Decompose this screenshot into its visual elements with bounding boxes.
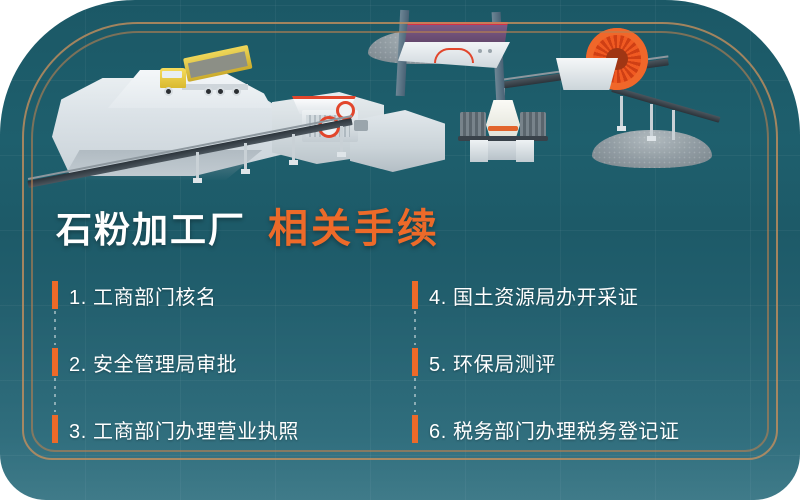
sand-maker-motor bbox=[460, 112, 486, 138]
list-item[interactable]: 3. 工商部门办理营业执照 bbox=[52, 414, 299, 444]
truck-wheel bbox=[204, 87, 213, 96]
conveyor-leg bbox=[672, 110, 675, 140]
vibrating-screen-icon bbox=[398, 22, 516, 78]
dump-truck-icon bbox=[160, 60, 252, 98]
conveyor-leg bbox=[292, 134, 295, 162]
sand-maker-leg bbox=[516, 140, 534, 162]
list-bullet-bar-icon bbox=[52, 281, 58, 309]
procedure-list-left-column: 1. 工商部门核名 2. 安全管理局审批 3. 工商部门办理营业执照 bbox=[52, 275, 392, 440]
sand-maker-motor bbox=[520, 112, 546, 138]
list-connector-dots bbox=[54, 378, 56, 412]
conveyor-foot bbox=[289, 160, 298, 165]
list-bullet-bar-icon bbox=[412, 415, 418, 443]
list-item[interactable]: 2. 安全管理局审批 bbox=[52, 347, 237, 377]
list-connector-dots bbox=[414, 378, 416, 412]
sand-maker-leg bbox=[470, 140, 488, 162]
sand-maker-feed-cone bbox=[486, 100, 520, 140]
list-item-label: 5. 环保局测评 bbox=[429, 348, 556, 377]
list-item-label: 4. 国土资源局办开采证 bbox=[429, 281, 638, 310]
list-connector-dots bbox=[414, 311, 416, 345]
washer-tank bbox=[556, 58, 618, 90]
list-item-label: 3. 工商部门办理营业执照 bbox=[69, 415, 299, 444]
list-item-label: 1. 工商部门核名 bbox=[69, 281, 217, 310]
truck-wheel bbox=[232, 87, 241, 96]
list-item-label: 6. 税务部门办理税务登记证 bbox=[429, 415, 680, 444]
list-bullet-bar-icon bbox=[412, 348, 418, 376]
truck-wheel bbox=[216, 87, 225, 96]
conveyor-leg bbox=[620, 96, 623, 128]
conveyor-foot bbox=[617, 126, 626, 131]
list-item[interactable]: 1. 工商部门核名 bbox=[52, 280, 217, 310]
vsi-sand-maker-icon bbox=[462, 96, 544, 162]
list-item[interactable]: 6. 税务部门办理税务登记证 bbox=[412, 414, 680, 444]
conveyor-leg bbox=[244, 143, 247, 171]
conveyor-foot bbox=[647, 136, 656, 141]
conveyor-foot bbox=[193, 178, 202, 183]
procedure-list-right-column: 4. 国土资源局办开采证 5. 环保局测评 6. 税务部门办理税务登记证 bbox=[412, 275, 752, 440]
conveyor-leg bbox=[196, 152, 199, 180]
title-primary: 石粉加工厂 bbox=[56, 201, 246, 253]
title-highlight: 相关手续 bbox=[268, 196, 440, 254]
list-item-label: 2. 安全管理局审批 bbox=[69, 348, 237, 377]
screen-port bbox=[488, 49, 492, 53]
conveyor-foot bbox=[337, 152, 346, 157]
page-title: 石粉加工厂 相关手续 bbox=[56, 196, 440, 254]
list-connector-dots bbox=[54, 311, 56, 345]
screen-port bbox=[478, 49, 482, 53]
sand-washer-icon bbox=[556, 28, 652, 94]
production-line-illustration bbox=[0, 0, 800, 195]
banner-panel: 石粉加工厂 相关手续 1. 工商部门核名 2. 安全管理局审批 3. 工商部门办… bbox=[0, 0, 800, 500]
list-item[interactable]: 4. 国土资源局办开采证 bbox=[412, 280, 638, 310]
truck-wheel bbox=[164, 87, 173, 96]
conveyor-leg bbox=[340, 126, 343, 154]
procedure-list: 1. 工商部门核名 2. 安全管理局审批 3. 工商部门办理营业执照 4. 国土… bbox=[52, 275, 752, 440]
screen-hoop bbox=[434, 48, 474, 63]
list-item[interactable]: 5. 环保局测评 bbox=[412, 347, 556, 377]
conveyor-foot bbox=[241, 169, 250, 174]
conveyor-leg bbox=[650, 104, 653, 138]
truck-windshield bbox=[162, 71, 182, 78]
crusher-motor bbox=[354, 120, 368, 131]
list-bullet-bar-icon bbox=[52, 348, 58, 376]
list-bullet-bar-icon bbox=[52, 415, 58, 443]
sand-maker-ring bbox=[488, 126, 518, 131]
list-bullet-bar-icon bbox=[412, 281, 418, 309]
